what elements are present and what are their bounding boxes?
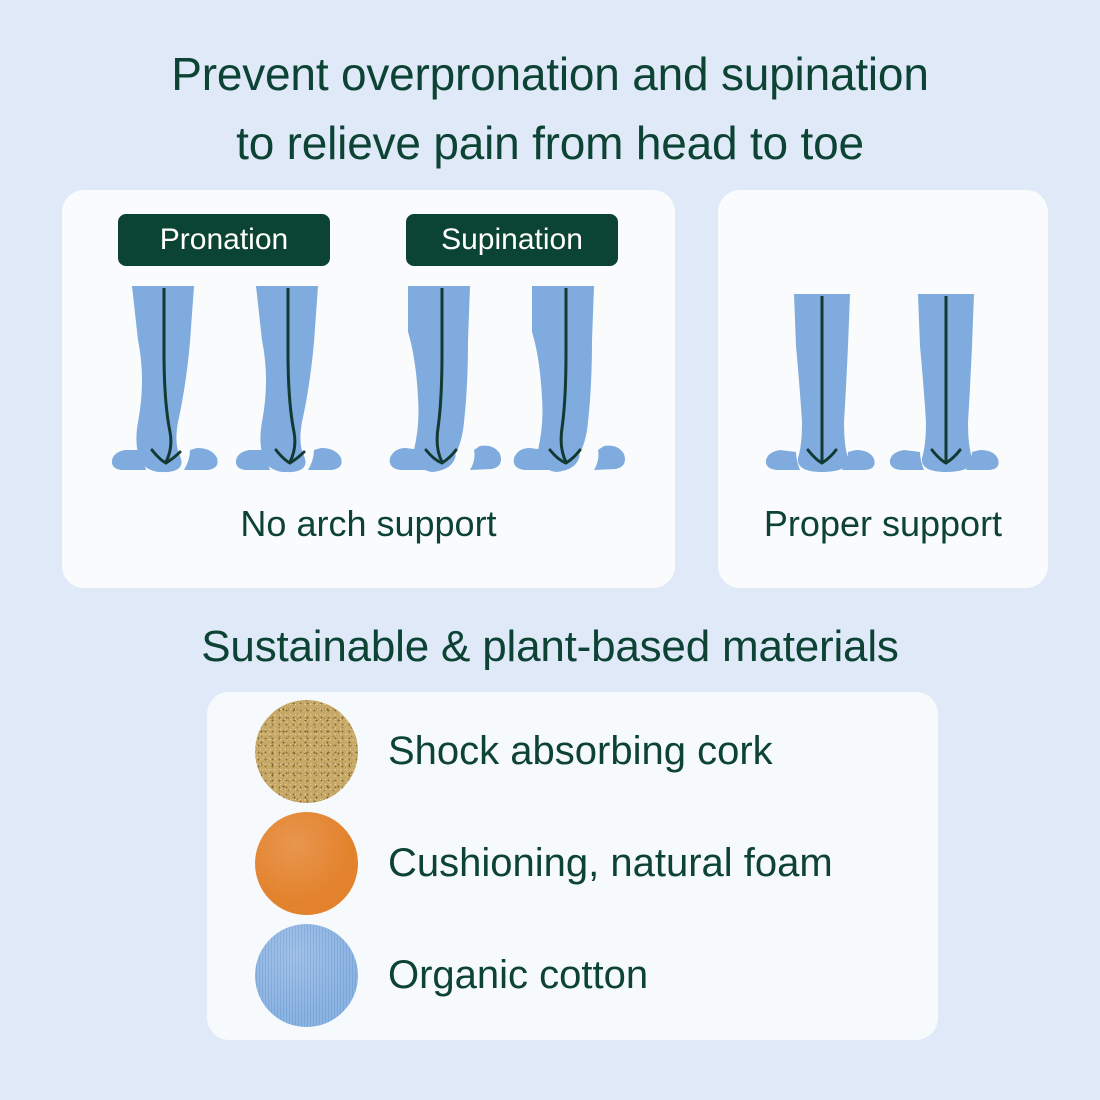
card-no-arch-support: Pronation Supination (62, 190, 675, 588)
page-title: Prevent overpronation and supination to … (0, 40, 1100, 178)
leg-supination-right (514, 286, 625, 472)
badge-pronation: Pronation (118, 214, 330, 266)
materials-section-heading: Sustainable & plant-based materials (0, 622, 1100, 672)
material-label-cork: Shock absorbing cork (388, 728, 773, 774)
leg-pronation-left (112, 286, 218, 472)
card-proper-support: Proper support (718, 190, 1048, 588)
headline-line-2: to relieve pain from head to toe (0, 109, 1100, 178)
caption-no-arch-support: No arch support (62, 502, 675, 545)
leg-proper-right (890, 294, 999, 472)
card-materials: Shock absorbing cork Cushioning, natural… (207, 692, 938, 1040)
leg-proper-left (766, 294, 875, 472)
material-item-cotton: Organic cotton (255, 920, 915, 1030)
infographic-page: Prevent overpronation and supination to … (0, 0, 1100, 1100)
material-item-cork: Shock absorbing cork (255, 696, 915, 806)
material-item-foam: Cushioning, natural foam (255, 808, 915, 918)
illustration-pronation-legs (102, 282, 352, 482)
caption-proper-support: Proper support (718, 502, 1048, 545)
badge-supination: Supination (406, 214, 618, 266)
leg-supination-left (390, 286, 501, 472)
cotton-swatch (255, 924, 358, 1027)
illustration-proper-support-legs (760, 282, 1010, 482)
illustration-supination-legs (384, 282, 634, 482)
material-label-cotton: Organic cotton (388, 952, 648, 998)
cork-swatch (255, 700, 358, 803)
headline-line-1: Prevent overpronation and supination (0, 40, 1100, 109)
leg-pronation-right (236, 286, 342, 472)
foam-swatch (255, 812, 358, 915)
material-label-foam: Cushioning, natural foam (388, 840, 833, 886)
